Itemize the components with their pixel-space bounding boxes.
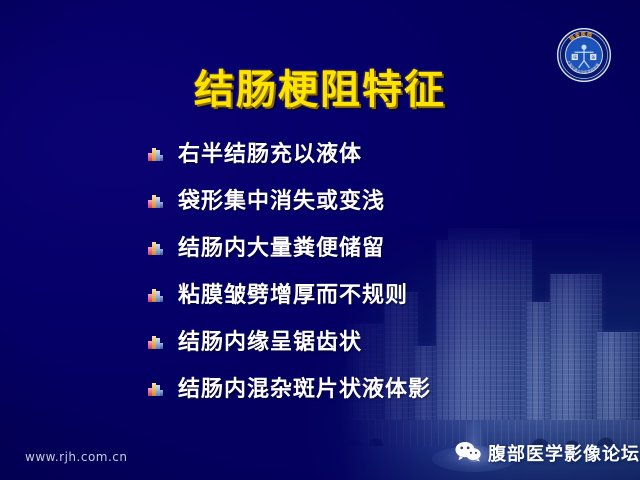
list-item-label: 结肠内缘呈锯齿状 [178,332,362,354]
forum-watermark: 腹部医学影像论坛 [455,440,640,466]
bar-chart-bullet-icon [148,289,163,303]
list-item-label: 右半结肠充以液体 [178,144,362,166]
bar-chart-bullet-icon [148,242,163,256]
list-item-label: 结肠内混杂斑片状液体影 [178,379,431,401]
presentation-slide: 瑞金医院 上海交通大学医学院附属 瑞 金 结肠梗阻特征 [0,0,640,480]
bar-chart-bullet-icon [148,195,163,209]
slide-title: 结肠梗阻特征 [0,57,640,115]
list-item: 结肠内大量粪便储留 [148,225,568,272]
list-item: 结肠内缘呈锯齿状 [148,319,568,366]
list-item-label: 粘膜皱劈增厚而不规则 [178,285,408,307]
wechat-icon [455,441,481,466]
bar-chart-bullet-icon [148,148,163,162]
list-item: 右半结肠充以液体 [148,131,568,178]
bullet-list: 右半结肠充以液体 袋形集中消失或变浅 结肠内大量粪便储留 粘膜皱劈增厚而不规则 [148,131,568,413]
website-watermark: www.rjh.com.cn [25,450,128,464]
forum-label: 腹部医学影像论坛 [488,440,640,466]
list-item: 结肠内混杂斑片状液体影 [148,366,568,413]
list-item: 粘膜皱劈增厚而不规则 [148,272,568,319]
bar-chart-bullet-icon [148,383,163,397]
list-item-label: 袋形集中消失或变浅 [178,191,385,213]
bar-chart-bullet-icon [148,336,163,350]
list-item-label: 结肠内大量粪便储留 [178,238,385,260]
list-item: 袋形集中消失或变浅 [148,178,568,225]
